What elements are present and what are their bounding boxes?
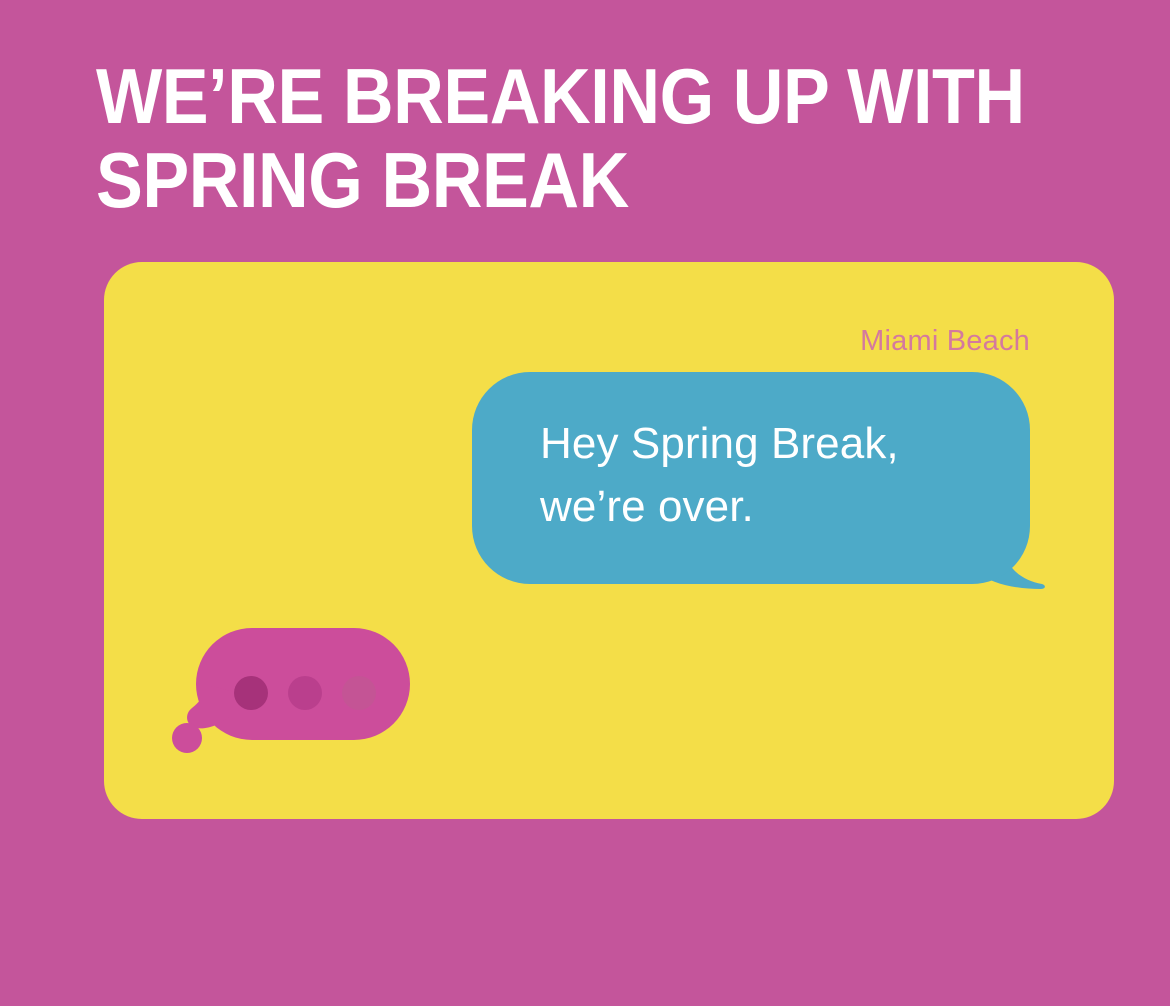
chat-card: Miami Beach Hey Spring Break, we’re over… [104,262,1114,819]
page-title: WE’RE BREAKING UP WITH SPRING BREAK [96,54,1116,222]
message-text: Hey Spring Break, we’re over. [472,372,1030,584]
message-text-line-2: we’re over. [540,475,1030,538]
contact-name-label: Miami Beach [860,324,1030,358]
headline-line-2: SPRING BREAK [96,138,1014,222]
typing-indicator-bubble [170,628,410,758]
typing-dot-1 [234,676,268,710]
typing-dots [234,676,378,710]
typing-dot-3 [342,676,376,710]
typing-dot-2 [288,676,322,710]
poster-canvas: WE’RE BREAKING UP WITH SPRING BREAK Miam… [0,0,1170,1006]
message-text-line-1: Hey Spring Break, [540,412,1030,475]
headline-line-1: WE’RE BREAKING UP WITH [96,54,1014,138]
message-bubble-incoming: Hey Spring Break, we’re over. [472,372,1030,584]
